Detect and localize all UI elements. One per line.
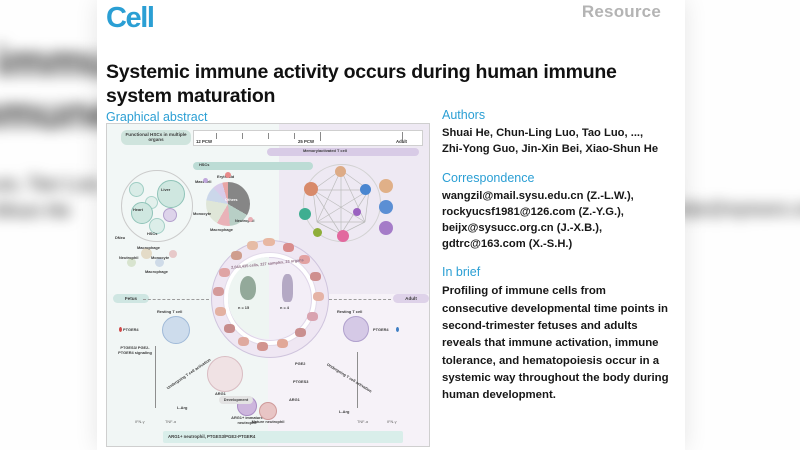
organ-icon-6 xyxy=(307,312,318,321)
pie-legend-dot-neutrophil xyxy=(248,217,253,222)
fetus-silhouette xyxy=(240,276,256,300)
in-brief-text: Profiling of immune cells from consecuti… xyxy=(442,283,674,404)
hsc-bubble-small-1 xyxy=(129,182,144,197)
adult-sample-count: n = 4 xyxy=(280,306,289,311)
label-resting-t-cell-fetus: Resting T cell xyxy=(157,310,182,315)
ptger4-marker-adult xyxy=(396,327,399,332)
correspondence-heading: Correspondence xyxy=(442,171,674,186)
stage-divider-left xyxy=(143,299,209,300)
organ-icon-1 xyxy=(263,238,275,246)
label-pge2-adult: PGE2 xyxy=(295,362,305,367)
graphical-abstract-figure[interactable]: Functional HSCs in multiple organs TRM s… xyxy=(106,123,430,447)
stage-tag-adult: Adult xyxy=(393,294,429,303)
hsc-bubble-small-3 xyxy=(163,208,177,222)
figure-caption-bar: ARG1+ neutrophil, PTGES3/PGE2-PTGER4 xyxy=(163,431,403,443)
organ-icon-11 xyxy=(224,324,235,333)
article-preview-card: Resource Cell Systemic immune activity o… xyxy=(97,0,685,450)
label-development: Development xyxy=(219,396,253,404)
organ-icon-14 xyxy=(219,268,230,277)
trm-node-2 xyxy=(304,182,318,196)
band-label-tcell: Memory/activated T cell xyxy=(303,149,347,154)
cell-label-macrophage: Macrophage xyxy=(137,246,160,251)
timeline-label-2: Adult xyxy=(396,139,407,144)
label-tnf-alpha-fetus: TNF-α xyxy=(165,420,176,425)
timeline-label-1: 25 PCW xyxy=(298,139,314,144)
organ-icon-4 xyxy=(310,272,321,281)
mature-neutrophil xyxy=(259,402,277,420)
label-arg1-adult: ARG1 xyxy=(289,398,300,403)
ptger4-marker-fetus xyxy=(119,327,122,332)
label-tnf-alpha-adult: TNF-α xyxy=(357,420,368,425)
hsc-bubble-label-hscs: HSCs xyxy=(147,232,157,237)
organ-icon-9 xyxy=(257,342,268,351)
trm-organ-node-3 xyxy=(379,221,393,235)
organ-icon-10 xyxy=(238,337,249,346)
authors-heading: Authors xyxy=(442,108,674,123)
differentiation-cluster xyxy=(207,356,243,392)
correspondence-line-4[interactable]: gdtrc@163.com (X.-S.H.) xyxy=(442,237,674,253)
metadata-column: Authors Shuai He, Chun-Ling Luo, Tao Luo… xyxy=(442,108,674,405)
trm-node-7 xyxy=(337,230,349,242)
label-signaling-fetus: PTGES3/ PGE2-PTGER4 signaling xyxy=(115,346,155,355)
article-type-label: Resource xyxy=(582,2,661,22)
trm-node-4 xyxy=(299,208,311,220)
correspondence-line-1[interactable]: wangzil@mail.sysu.edu.cn (Z.-L.W.), xyxy=(442,189,674,205)
stage-divider-right xyxy=(329,299,391,300)
hsc-bubble-label-liver: Liver xyxy=(161,188,170,193)
in-brief-heading: In brief xyxy=(442,265,674,280)
label-resting-t-cell-adult: Resting T cell xyxy=(337,310,362,315)
hsc-bubble-label-heart: Heart xyxy=(133,208,143,213)
organ-icon-7 xyxy=(295,328,306,337)
page-title: Systemic immune activity occurs during h… xyxy=(106,61,636,109)
cell-label-neutrophil: Neutrophil xyxy=(119,256,138,261)
organ-icon-15 xyxy=(231,251,242,260)
adult-silhouette xyxy=(282,274,293,302)
resting-t-cell-fetus xyxy=(162,316,190,344)
organ-icon-12 xyxy=(215,307,226,316)
pie-label-macrophage: Macrophage xyxy=(210,228,233,233)
figure-caption-text: ARG1+ neutrophil, PTGES3/PGE2-PTGER4 xyxy=(168,434,255,439)
cell-label-monocyte: Monocyte xyxy=(151,256,169,261)
label-larg-adult: L-Arg xyxy=(339,410,349,415)
pie-legend-dot-mast xyxy=(203,178,208,183)
authors-list: Shuai He, Chun-Ling Luo, Tao Luo, ..., Z… xyxy=(442,126,674,158)
trm-node-5 xyxy=(353,208,361,216)
cell-label-dneu: DNeu xyxy=(115,236,125,241)
cell-icon-erythroid xyxy=(169,250,177,258)
organ-icon-13 xyxy=(213,287,224,296)
organ-icon-5 xyxy=(313,292,324,301)
trm-organ-node-1 xyxy=(379,179,393,193)
signaling-axis-fetus xyxy=(155,346,156,408)
label-larg-fetus: L-Arg xyxy=(177,406,187,411)
cell-journal-logo[interactable]: Cell xyxy=(106,4,154,33)
trm-node-6 xyxy=(313,228,322,237)
band-label-hscs: HSCs xyxy=(199,163,209,168)
correspondence-line-2[interactable]: rockyucsf1981@126.com (Z.-Y.G.), xyxy=(442,205,674,221)
trm-organ-node-2 xyxy=(379,200,393,214)
label-ptger4-fetus: PTGER4 xyxy=(123,328,139,333)
developmental-timeline: 12 PCW 25 PCW Adult xyxy=(193,130,423,146)
authors-line-1: Shuai He, Chun-Ling Luo, Tao Luo, ..., xyxy=(442,126,674,142)
organ-icon-16 xyxy=(247,241,258,250)
label-ifn-gamma-adult: IFN-γ xyxy=(387,420,397,425)
pie-label-others: Others xyxy=(225,198,238,203)
label-ifn-gamma-fetus: IFN-γ xyxy=(135,420,145,425)
hsc-bubble-liver xyxy=(157,180,185,208)
band-hscs xyxy=(193,162,313,170)
trm-node-1 xyxy=(335,166,346,177)
organ-icon-8 xyxy=(277,339,288,348)
organ-icon-2 xyxy=(283,243,294,252)
trm-node-3 xyxy=(360,184,371,195)
graphical-abstract-heading: Graphical abstract xyxy=(106,110,207,124)
cell-label-macrophage-2: Macrophage xyxy=(145,270,168,275)
label-ptges3-adult: PTGES3 xyxy=(293,380,308,385)
pie-legend-dot-erythroid xyxy=(225,172,231,178)
correspondence-list: wangzil@mail.sysu.edu.cn (Z.-L.W.), rock… xyxy=(442,189,674,253)
label-ptger4-adult: PTGER4 xyxy=(373,328,389,333)
timeline-label-0: 12 PCW xyxy=(196,139,212,144)
fetus-sample-count: n = 15 xyxy=(238,306,249,311)
authors-line-2: Zhi-Yong Guo, Jin-Xin Bei, Xiao-Shun He xyxy=(442,142,674,158)
correspondence-line-3[interactable]: beijx@sysucc.org.cn (J.-X.B.), xyxy=(442,221,674,237)
pie-label-monocyte: Monocyte xyxy=(193,212,211,217)
label-mature-neutrophil: Mature neutrophil xyxy=(251,420,285,425)
resting-t-cell-adult xyxy=(343,316,369,342)
panel-title-hscs: Functional HSCs in multiple organs xyxy=(121,130,191,145)
